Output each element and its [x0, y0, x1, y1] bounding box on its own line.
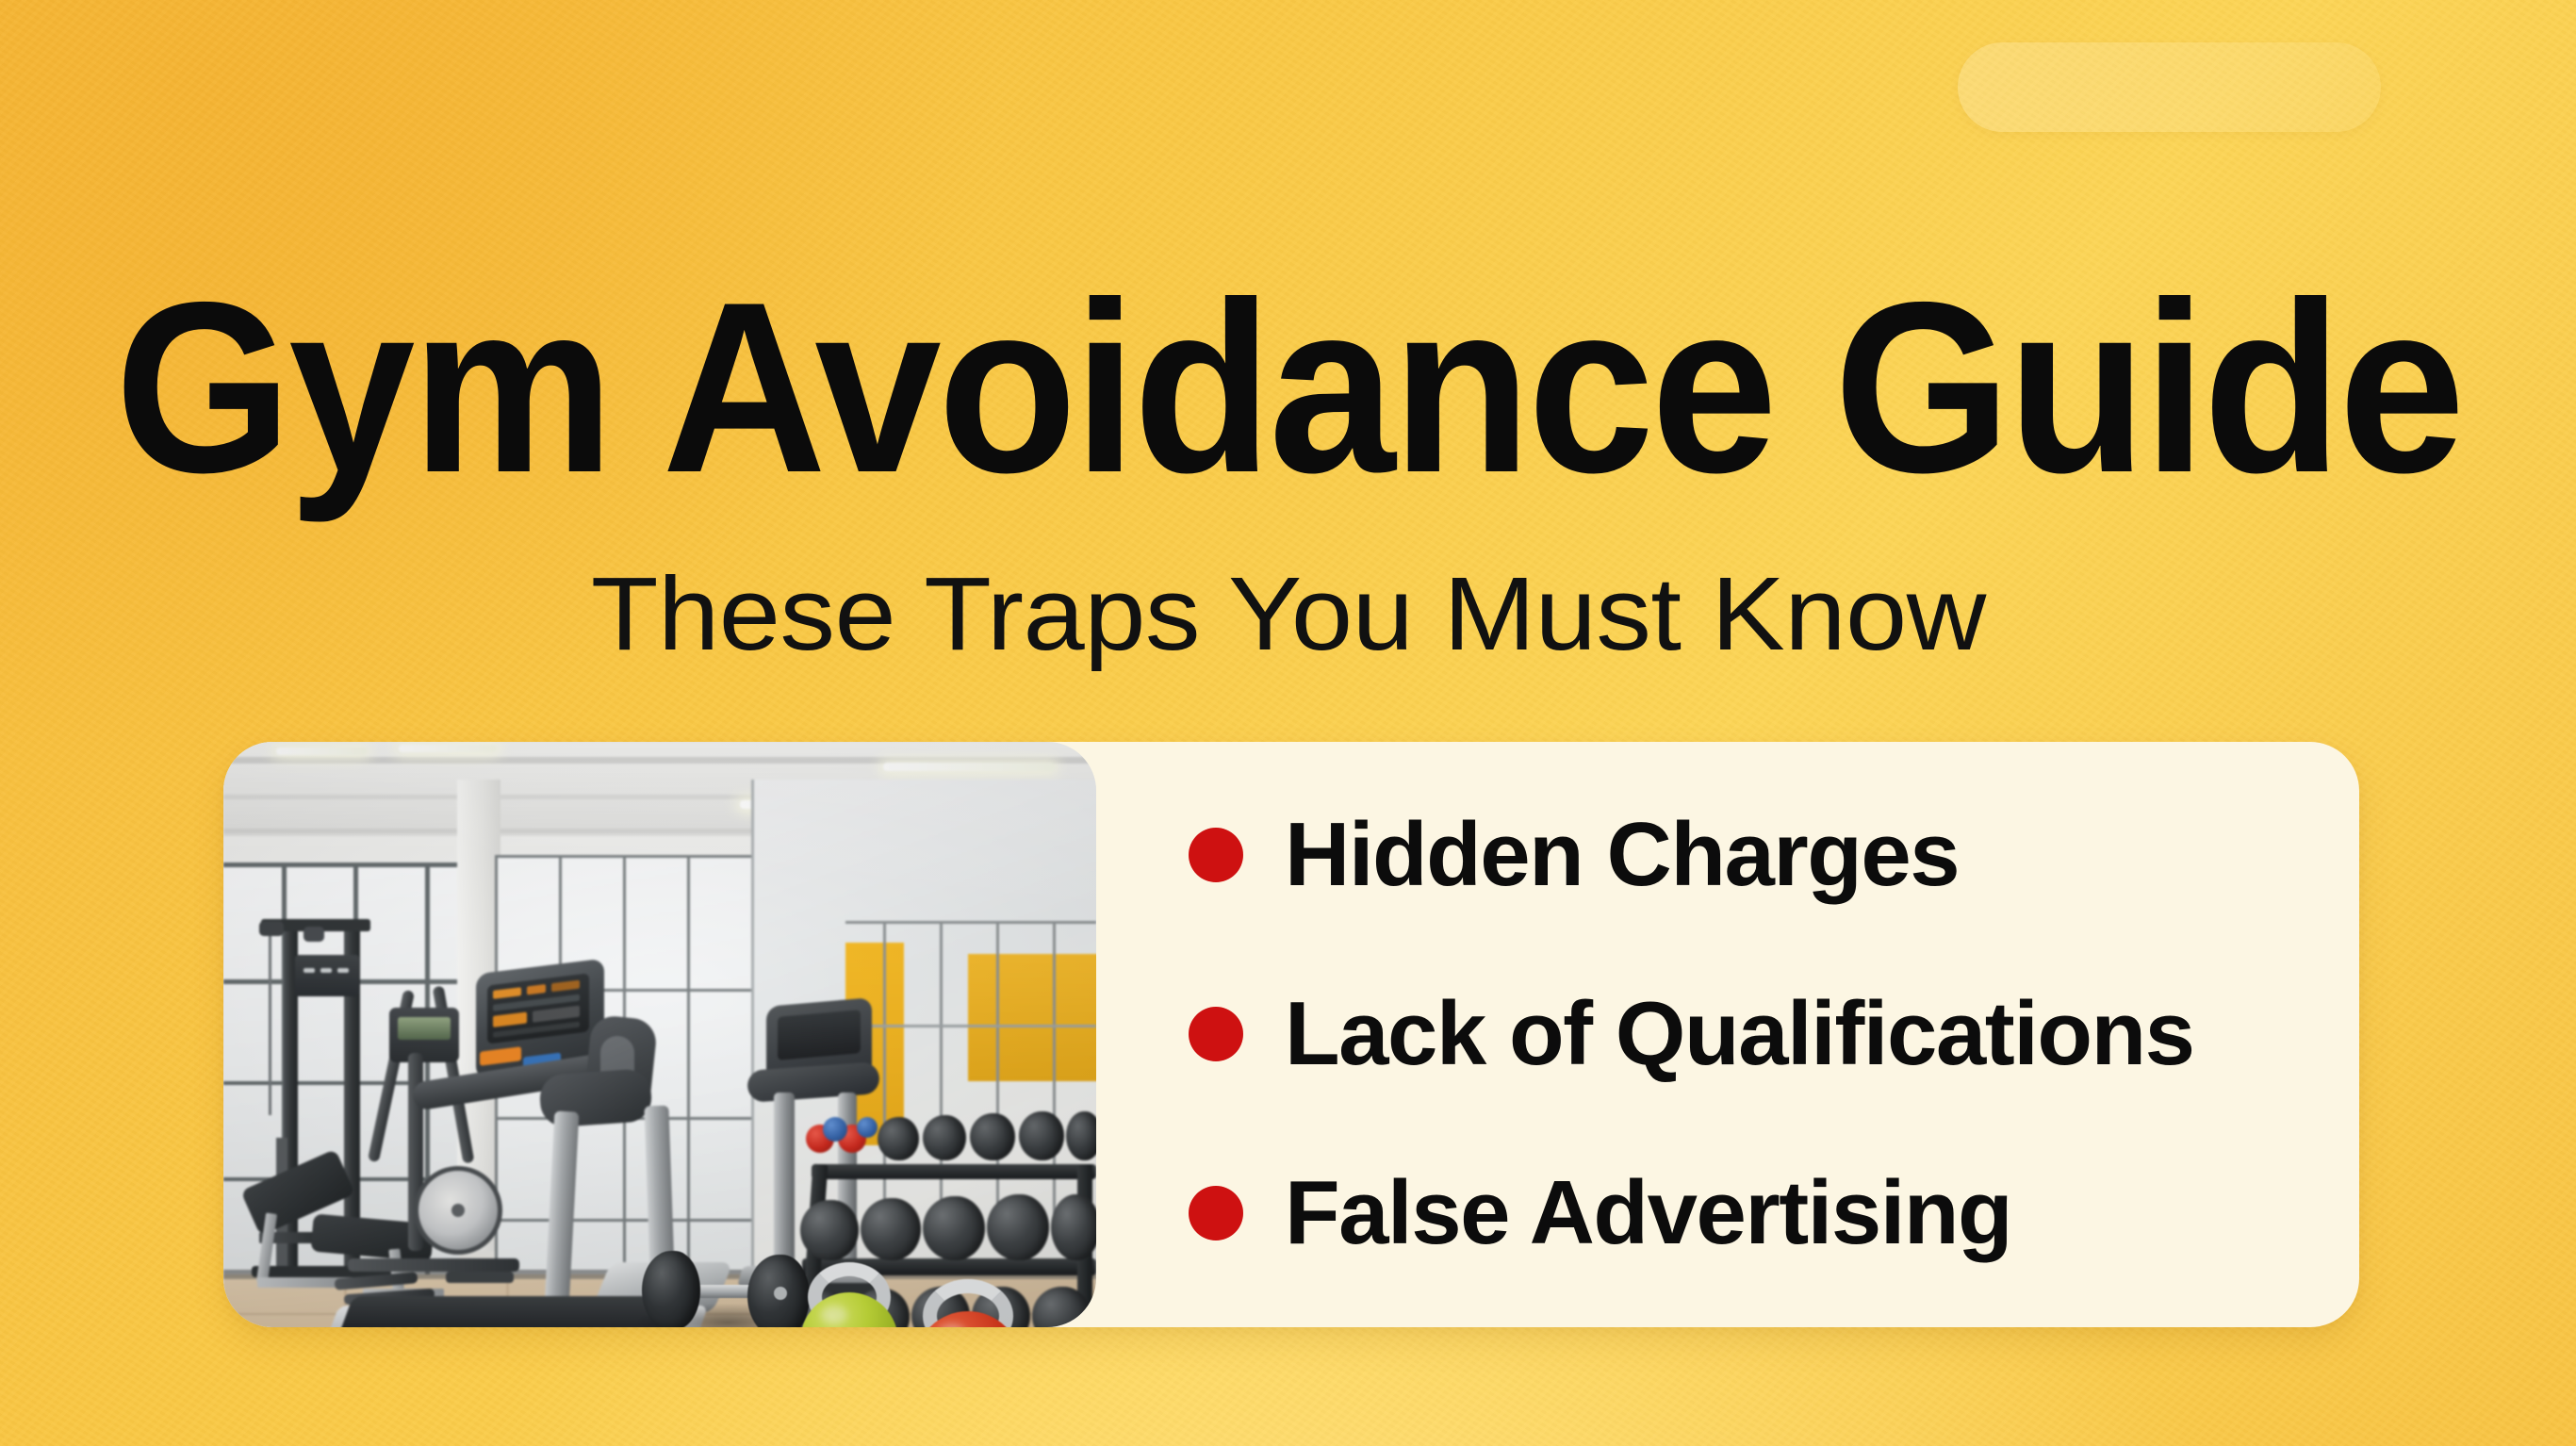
- bullet-dot-icon: [1189, 828, 1243, 882]
- page-subtitle: These Traps You Must Know: [0, 563, 2576, 666]
- list-item[interactable]: Hidden Charges: [1189, 810, 2310, 900]
- decorative-pill-badge: [1958, 42, 2381, 132]
- list-item[interactable]: False Advertising: [1189, 1168, 2310, 1258]
- list-item-label: False Advertising: [1285, 1168, 2011, 1258]
- list-item-label: Lack of Qualifications: [1285, 989, 2194, 1079]
- page-title: Gym Avoidance Guide: [0, 266, 2576, 509]
- kettlebell-highlight: [821, 1306, 847, 1324]
- list-item[interactable]: Lack of Qualifications: [1189, 989, 2310, 1079]
- bullet-dot-icon: [1189, 1186, 1243, 1241]
- list-item-label: Hidden Charges: [1285, 810, 1959, 900]
- poster-canvas: Gym Avoidance Guide These Traps You Must…: [0, 0, 2576, 1446]
- dumbbell-plate-left: [642, 1251, 700, 1327]
- bullet-dot-icon: [1189, 1007, 1243, 1061]
- title-text: Gym Avoidance Guide: [114, 266, 2461, 509]
- gym-photo: [223, 742, 1096, 1327]
- content-card: Hidden Charges Lack of Qualifications Fa…: [223, 742, 2359, 1327]
- dumbbell-collar: [774, 1287, 787, 1300]
- traps-list: Hidden Charges Lack of Qualifications Fa…: [1189, 778, 2310, 1296]
- subtitle-text: These Traps You Must Know: [590, 563, 1985, 666]
